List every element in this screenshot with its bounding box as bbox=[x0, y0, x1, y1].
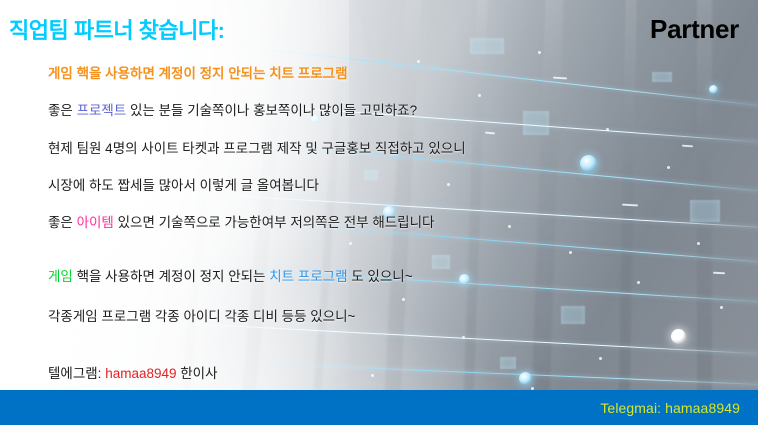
brand-logo: Partner bbox=[650, 14, 739, 45]
body-line-5-part-b: 핵을 사용하면 계정이 정지 안되는 bbox=[73, 269, 269, 284]
body-line-6: 각종게임 프로그램 각종 아이디 각종 디비 등등 있으니~ bbox=[48, 305, 355, 325]
body-line-4-part-c: 있으면 기술쪽으로 가능한여부 저의쪽은 전부 해드립니다 bbox=[114, 215, 435, 230]
body-line-4: 좋은 아이템 있으면 기술쪽으로 가능한여부 저의쪽은 전부 해드립니다 bbox=[48, 211, 434, 231]
body-line-4-part-a: 좋은 bbox=[48, 215, 77, 230]
footer-contact-text[interactable]: Telegmai: hamaa8949 bbox=[600, 400, 758, 416]
page-title: 직업팀 파트너 찾습니다: bbox=[9, 13, 224, 45]
body-line-1-part-a: 좋은 bbox=[48, 103, 77, 118]
body-line-1-part-c: 있는 분들 기술쪽이나 홍보쪽이나 많이들 고민하죠? bbox=[126, 103, 417, 118]
contact-line: 텔에그램: hamaa8949 한이사 bbox=[48, 362, 218, 382]
body-line-2: 현제 팀원 4명의 사이트 타켓과 프로그램 제작 및 구글홍보 직접하고 있으… bbox=[48, 137, 466, 157]
sub-headline: 게임 핵을 사용하면 계정이 정지 안되는 치트 프로그램 bbox=[48, 62, 348, 82]
keyword-item: 아이템 bbox=[77, 215, 114, 230]
keyword-project: 프로젝트 bbox=[77, 103, 127, 118]
slide-content: 직업팀 파트너 찾습니다: Partner 게임 핵을 사용하면 계정이 정지 … bbox=[0, 0, 758, 425]
body-line-5: 게임 핵을 사용하면 계정이 정지 안되는 치트 프로그램 도 있으니~ bbox=[48, 265, 413, 285]
footer-bar: Telegmai: hamaa8949 bbox=[0, 390, 758, 425]
body-line-5-part-d: 도 있으니~ bbox=[348, 269, 413, 284]
contact-person: 한이사 bbox=[177, 366, 218, 381]
body-line-1: 좋은 프로젝트 있는 분들 기술쪽이나 홍보쪽이나 많이들 고민하죠? bbox=[48, 99, 417, 119]
keyword-game: 게임 bbox=[48, 269, 73, 284]
promo-slide: 직업팀 파트너 찾습니다: Partner 게임 핵을 사용하면 계정이 정지 … bbox=[0, 0, 758, 425]
contact-label: 텔에그램: bbox=[48, 366, 105, 381]
telegram-handle[interactable]: hamaa8949 bbox=[105, 366, 176, 381]
body-line-3: 시장에 하도 짭세들 많아서 이렇게 글 올여봅니다 bbox=[48, 174, 319, 194]
keyword-cheat-program: 치트 프로그램 bbox=[269, 269, 347, 284]
